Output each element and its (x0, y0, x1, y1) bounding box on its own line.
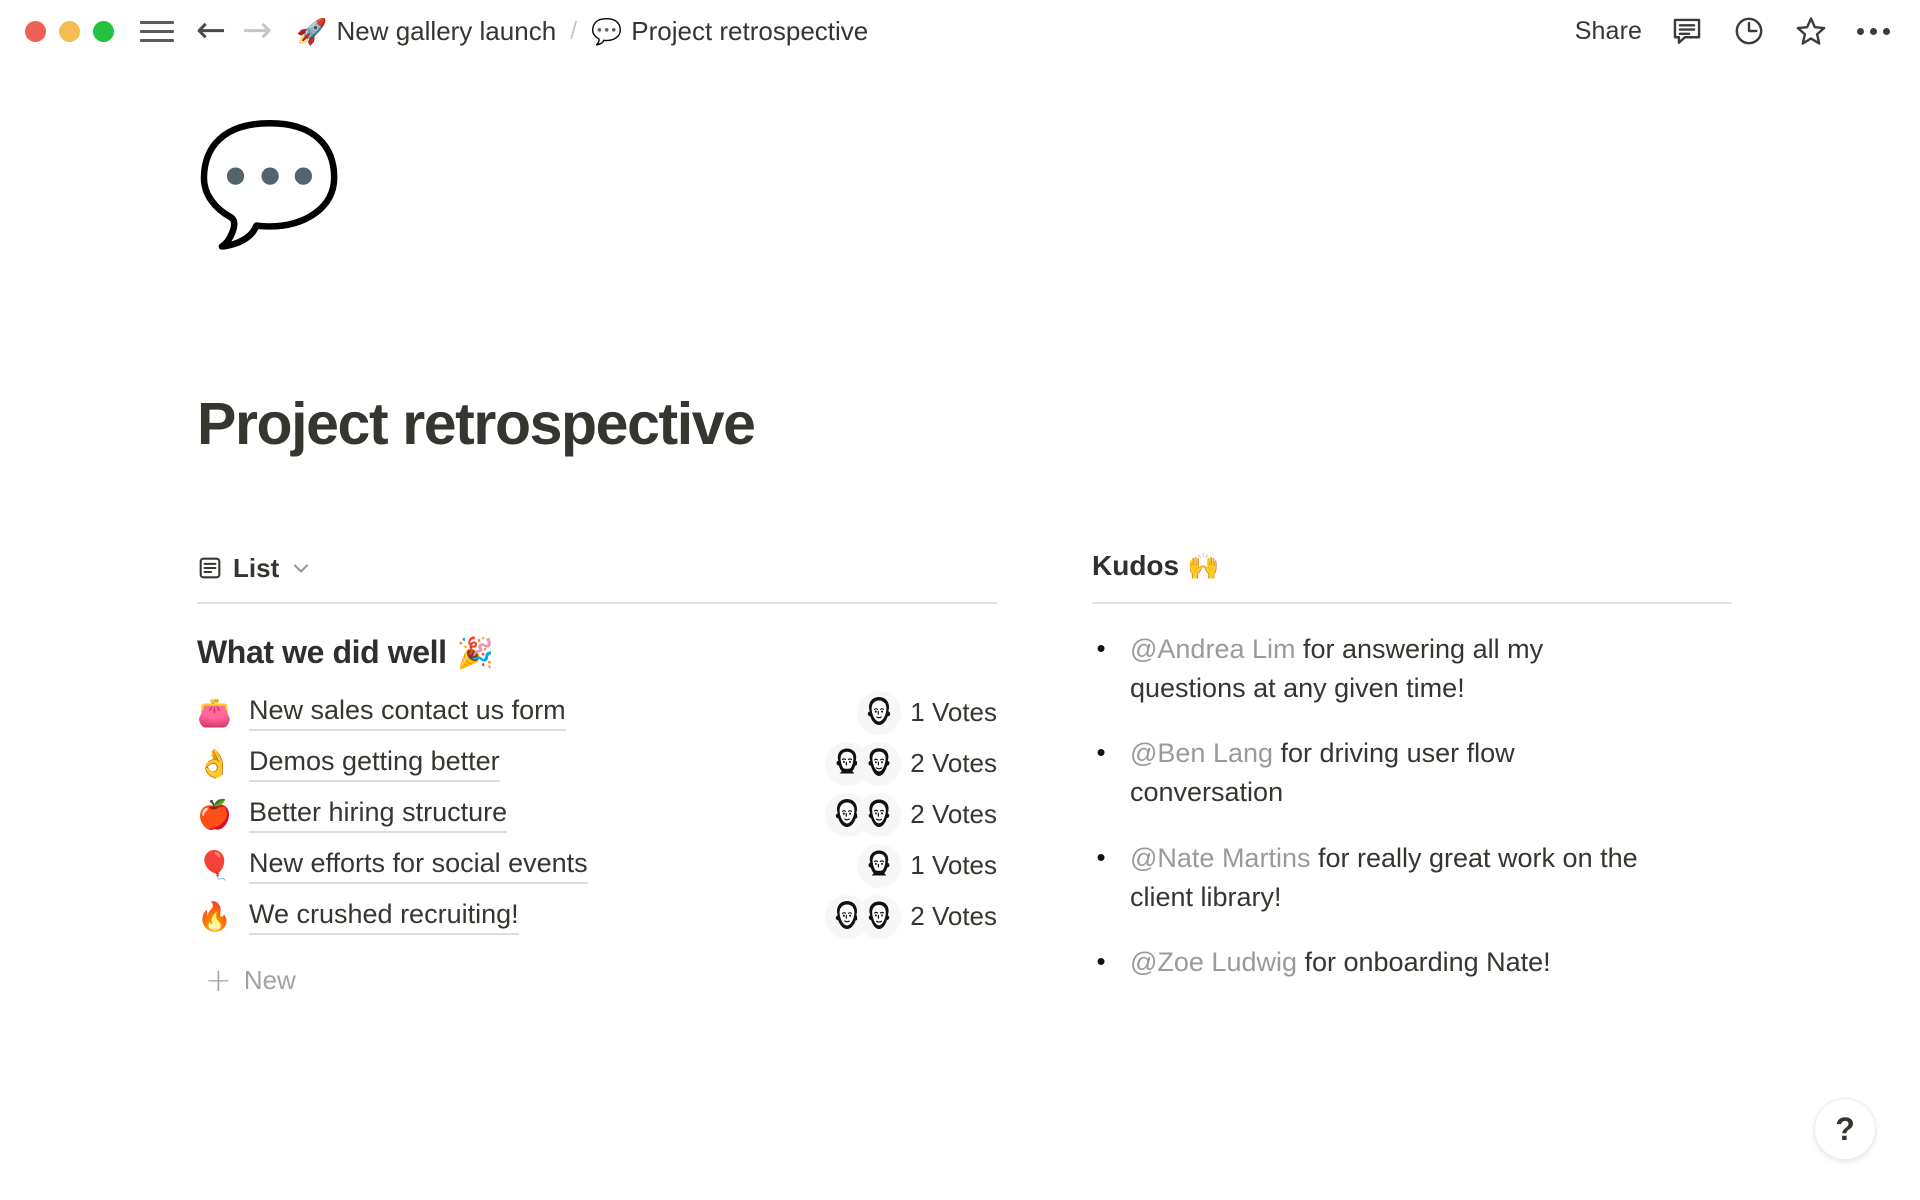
row-emoji-icon: 👛 (197, 699, 249, 727)
bullet-icon: • (1092, 734, 1110, 812)
retro-item-list: 👛New sales contact us form1 Votes👌Demos … (197, 687, 997, 942)
avatar-group (789, 742, 901, 786)
view-selector-label: List (233, 553, 279, 584)
row-title-link[interactable]: We crushed recruiting! (249, 899, 519, 935)
back-arrow-icon[interactable]: ← (196, 13, 226, 49)
vote-count: 2 Votes (901, 799, 997, 830)
hamburger-menu-icon[interactable] (140, 18, 174, 44)
add-new-item-button[interactable]: + New (197, 958, 997, 1002)
row-emoji-icon: 🍎 (197, 801, 249, 829)
avatar[interactable] (857, 895, 901, 939)
user-mention[interactable]: @Ben Lang (1130, 738, 1273, 768)
forward-arrow-icon[interactable]: → (242, 13, 272, 49)
row-votes-cell: 2 Votes (787, 895, 997, 939)
minimize-window-button[interactable] (59, 21, 80, 42)
row-votes-cell: 1 Votes (787, 844, 997, 888)
list-item: •@Andrea Lim for answering all my questi… (1092, 630, 1732, 708)
avatar-group (789, 844, 901, 888)
row-title-link[interactable]: Demos getting better (249, 746, 500, 782)
table-row[interactable]: 🍎Better hiring structure2 Votes (197, 789, 997, 840)
kudos-heading-text: Kudos (1092, 550, 1179, 582)
kudos-heading: Kudos 🙌 (1092, 550, 1732, 582)
vote-count: 1 Votes (901, 697, 997, 728)
party-popper-icon: 🎉 (457, 636, 494, 671)
user-mention[interactable]: @Andrea Lim (1130, 634, 1295, 664)
rocket-icon: 🚀 (296, 19, 327, 44)
window-controls (25, 21, 114, 42)
vote-count: 1 Votes (901, 850, 997, 881)
row-votes-cell: 2 Votes (787, 742, 997, 786)
share-button[interactable]: Share (1575, 17, 1642, 46)
add-new-item-label: New (244, 965, 296, 996)
topbar-actions: Share (1575, 14, 1890, 48)
kudos-text: @Ben Lang for driving user flow conversa… (1130, 734, 1650, 812)
vote-count: 2 Votes (901, 748, 997, 779)
kudos-text: @Nate Martins for really great work on t… (1130, 839, 1650, 917)
speech-balloon-icon: 💬 (591, 19, 622, 44)
close-window-button[interactable] (25, 21, 46, 42)
kudos-text: @Zoe Ludwig for onboarding Nate! (1130, 943, 1551, 982)
page-title[interactable]: Project retrospective (197, 390, 755, 458)
page-content: 💬 Project retrospective List (0, 62, 1920, 1200)
row-emoji-icon: 🎈 (197, 852, 249, 880)
history-clock-icon[interactable] (1732, 14, 1766, 48)
avatar[interactable] (857, 691, 901, 735)
kudos-text: @Andrea Lim for answering all my questio… (1130, 630, 1650, 708)
table-row[interactable]: 🎈New efforts for social events1 Votes (197, 840, 997, 891)
row-votes-cell: 1 Votes (787, 691, 997, 735)
more-options-icon[interactable] (1856, 28, 1890, 35)
section-heading-text: What we did well (197, 634, 447, 671)
help-button[interactable]: ? (1814, 1098, 1876, 1160)
window-title-bar: ← → 🚀 New gallery launch / 💬 Project ret… (0, 0, 1920, 62)
avatar[interactable] (857, 793, 901, 837)
avatar-group (789, 691, 901, 735)
avatar-group (789, 895, 901, 939)
left-column: List What we did well 🎉 👛New sales conta… (197, 550, 997, 1002)
list-item: •@Nate Martins for really great work on … (1092, 839, 1732, 917)
list-item: •@Zoe Ludwig for onboarding Nate! (1092, 943, 1732, 982)
table-row[interactable]: 👌Demos getting better2 Votes (197, 738, 997, 789)
list-view-icon (197, 555, 223, 581)
breadcrumb: 🚀 New gallery launch / 💬 Project retrosp… (296, 16, 868, 47)
row-title-link[interactable]: New sales contact us form (249, 695, 566, 731)
raised-hands-icon: 🙌 (1187, 552, 1219, 582)
vote-count: 2 Votes (901, 901, 997, 932)
bullet-icon: • (1092, 839, 1110, 917)
page-icon[interactable]: 💬 (196, 124, 343, 242)
avatar[interactable] (857, 844, 901, 888)
row-title-link[interactable]: Better hiring structure (249, 797, 507, 833)
avatar-group (789, 793, 901, 837)
breadcrumb-item-current[interactable]: Project retrospective (631, 16, 868, 47)
row-emoji-icon: 👌 (197, 750, 249, 778)
row-title-link[interactable]: New efforts for social events (249, 848, 588, 884)
left-divider (197, 602, 997, 604)
bullet-icon: • (1092, 943, 1110, 982)
plus-icon: + (205, 964, 232, 996)
maximize-window-button[interactable] (93, 21, 114, 42)
star-icon[interactable] (1794, 14, 1828, 48)
right-column: Kudos 🙌 •@Andrea Lim for answering all m… (1092, 550, 1732, 1008)
row-emoji-icon: 🔥 (197, 903, 249, 931)
user-mention[interactable]: @Nate Martins (1130, 843, 1310, 873)
breadcrumb-separator: / (570, 17, 577, 46)
user-mention[interactable]: @Zoe Ludwig (1130, 947, 1297, 977)
row-votes-cell: 2 Votes (787, 793, 997, 837)
avatar[interactable] (857, 742, 901, 786)
table-row[interactable]: 🔥We crushed recruiting!2 Votes (197, 891, 997, 942)
chevron-down-icon[interactable] (289, 556, 313, 580)
list-item: •@Ben Lang for driving user flow convers… (1092, 734, 1732, 812)
table-row[interactable]: 👛New sales contact us form1 Votes (197, 687, 997, 738)
section-heading: What we did well 🎉 (197, 634, 997, 671)
view-selector[interactable]: List (197, 550, 997, 586)
breadcrumb-item-parent[interactable]: New gallery launch (336, 16, 556, 47)
bullet-icon: • (1092, 630, 1110, 708)
kudos-list: •@Andrea Lim for answering all my questi… (1092, 630, 1732, 982)
kudos-body-text: for onboarding Nate! (1297, 947, 1551, 977)
right-divider (1092, 602, 1732, 604)
comment-icon[interactable] (1670, 14, 1704, 48)
